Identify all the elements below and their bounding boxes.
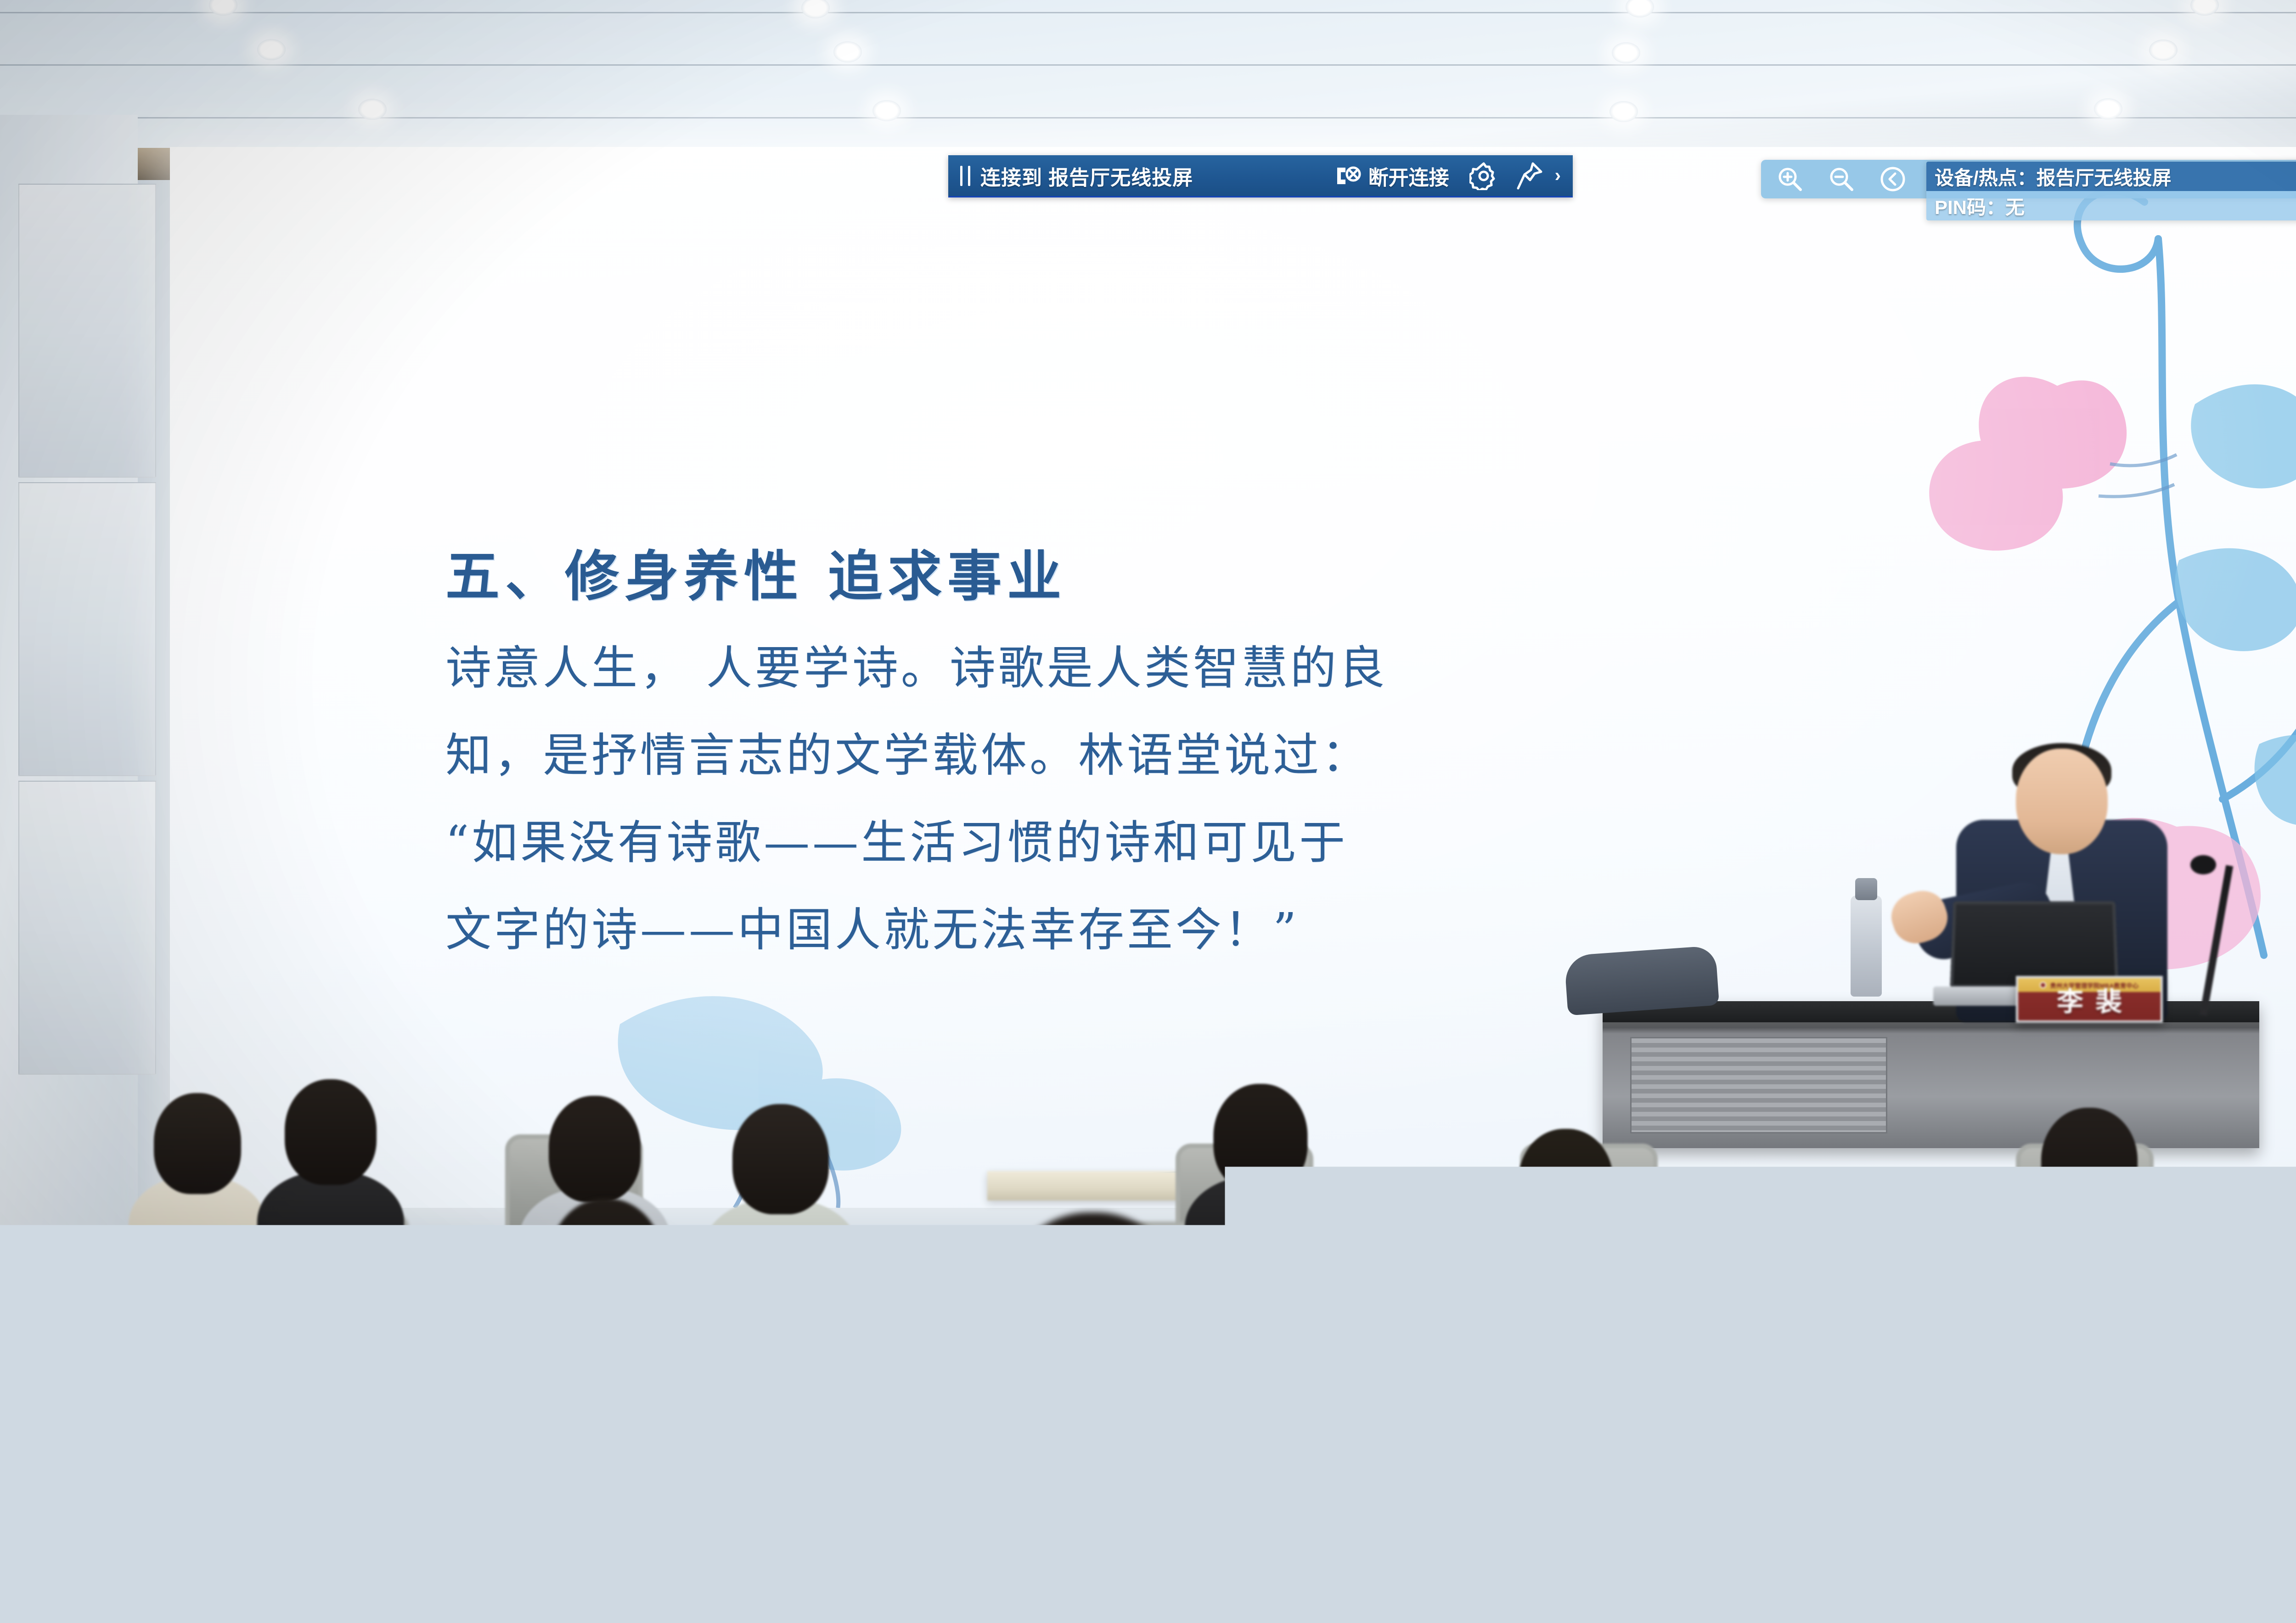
recessed-downlight-icon	[1609, 101, 1638, 122]
recessed-downlight-icon	[257, 39, 286, 60]
recessed-downlight-icon	[872, 100, 901, 121]
audience-head	[996, 1212, 1189, 1428]
audience-head	[1214, 1084, 1308, 1192]
disconnect-icon	[1334, 164, 1361, 188]
audience-head	[285, 1079, 377, 1185]
ceiling-seam	[0, 12, 2296, 13]
audience-member	[941, 1212, 1244, 1623]
ceiling	[0, 0, 2296, 152]
recessed-downlight-icon	[1612, 42, 1640, 63]
audience-member	[1929, 1286, 2223, 1623]
recessed-downlight-icon	[833, 41, 862, 62]
recessed-downlight-icon	[801, 0, 830, 18]
audience-member	[542, 1245, 817, 1623]
audience-shoulders	[542, 1428, 817, 1623]
wall-panel	[18, 184, 156, 478]
audience-shoulders	[1929, 1456, 2223, 1623]
audience-member	[129, 1084, 266, 1277]
screenshot-root: 五、修身养性 追求事业 诗意人生， 人要学诗。诗歌是人类智慧的良 知，是抒情言志…	[0, 0, 2296, 1623]
audience-member	[257, 1075, 404, 1272]
disconnect-button[interactable]: 断开连接	[1334, 161, 1449, 191]
audience-head	[549, 1096, 641, 1202]
audience-head	[1519, 1129, 1613, 1234]
audience-head	[590, 1245, 769, 1451]
ceiling-seam	[0, 64, 2296, 66]
connection-status-label: 连接到 报告厅无线投屏	[980, 161, 1193, 191]
recessed-downlight-icon	[2094, 98, 2122, 119]
jacket-text-top: Hip	[1203, 1346, 1306, 1409]
slide-body-line: 诗意人生， 人要学诗。诗歌是人类智慧的良	[445, 625, 1823, 712]
drag-handle-icon[interactable]	[960, 165, 970, 186]
audience-head	[732, 1104, 829, 1214]
audience-member	[1552, 1240, 1837, 1623]
audience-head	[1603, 1240, 1786, 1449]
slide-title: 五、修身养性 追求事业	[445, 532, 1067, 611]
disconnect-label: 断开连接	[1368, 161, 1449, 191]
audience-shoulders	[0, 1451, 230, 1623]
zoom-out-icon[interactable]	[1828, 166, 1855, 192]
pin-icon[interactable]	[1516, 162, 1543, 190]
audience-shoulders	[1552, 1428, 1837, 1623]
jacket-text-bottom: per	[1286, 1451, 1378, 1508]
recessed-downlight-icon	[358, 99, 387, 120]
gear-icon[interactable]	[1469, 162, 1498, 190]
recessed-downlight-icon	[2149, 39, 2178, 61]
wireless-projection-connect-bar[interactable]: 连接到 报告厅无线投屏 断开连接 ›	[948, 155, 1573, 197]
device-pin-row: PIN码：无	[1926, 191, 2296, 220]
device-info-panel: 设备/热点：报告厅无线投屏 PIN码：无	[1926, 162, 2296, 220]
wall-panel	[18, 482, 156, 776]
audience-shoulders	[941, 1410, 1244, 1623]
zoom-in-icon[interactable]	[1777, 166, 1803, 192]
ceiling-seam	[0, 117, 2296, 118]
chevron-left-icon[interactable]	[1880, 166, 1906, 192]
audience-shoulders	[257, 1171, 404, 1281]
recessed-downlight-icon	[1626, 0, 1654, 17]
audience-head	[0, 1277, 179, 1474]
audience-area: Hip per	[0, 781, 2296, 1623]
chevron-right-icon[interactable]: ›	[1555, 165, 1561, 186]
audience-head	[1981, 1286, 2170, 1479]
device-name-row: 设备/热点：报告厅无线投屏	[1926, 162, 2296, 191]
audience-member	[0, 1277, 230, 1623]
audience-head	[154, 1093, 241, 1194]
